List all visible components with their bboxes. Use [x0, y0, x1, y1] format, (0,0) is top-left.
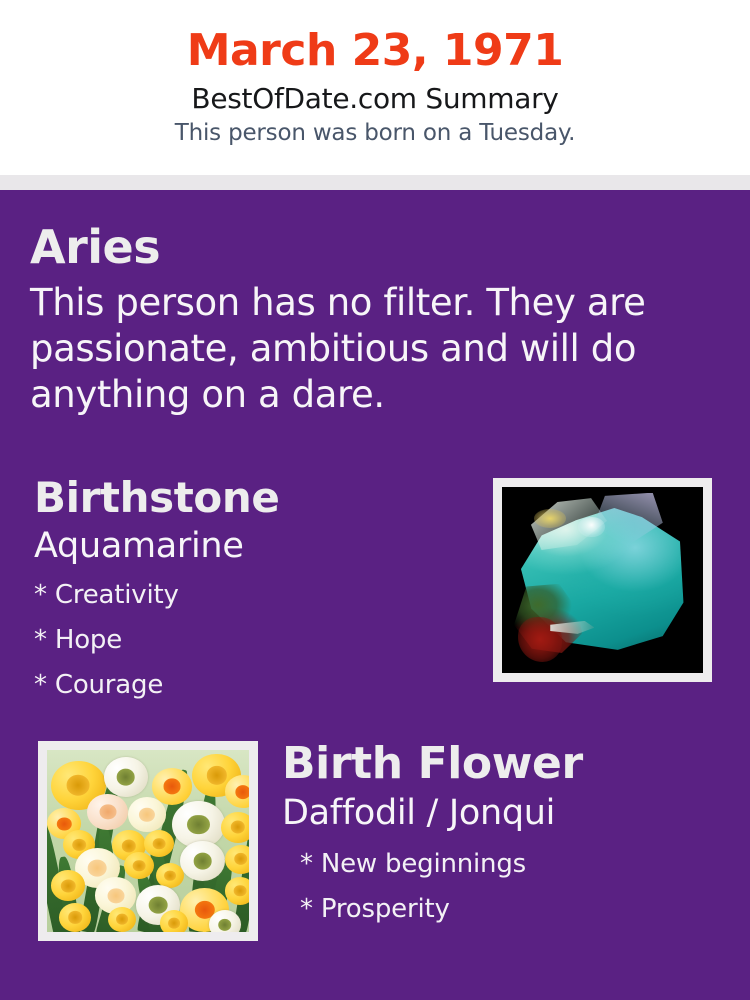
daffodil-bloom [51, 870, 85, 901]
page-title-date: March 23, 1971 [0, 0, 750, 76]
list-item: * Prosperity [300, 887, 732, 932]
daffodil-bloom [108, 907, 136, 932]
daffodil-bloom [221, 812, 249, 843]
daffodil-flowers-image [47, 750, 249, 932]
daffodil-bloom [104, 757, 148, 797]
birthstone-photo-frame [493, 478, 712, 682]
zodiac-description: This person has no filter. They are pass… [30, 274, 670, 418]
birthstone-heading: Birthstone [34, 473, 474, 523]
daffodil-bloom [87, 794, 127, 830]
crystal-yellow-patch [534, 509, 566, 528]
zodiac-sign-heading: Aries [30, 220, 670, 274]
birth-flower-section: Birth Flower Daffodil / Jonqui * New beg… [282, 738, 732, 932]
daffodil-bloom [160, 910, 188, 932]
birth-flower-photo-frame [38, 741, 258, 941]
birth-flower-name: Daffodil / Jonqui [282, 790, 732, 834]
daffodil-bloom [152, 768, 192, 804]
weekday-statement: This person was born on a Tuesday. [0, 115, 750, 147]
zodiac-section: Aries This person has no filter. They ar… [30, 220, 670, 418]
list-item: * Courage [34, 663, 474, 708]
list-item: * Creativity [34, 573, 474, 618]
site-summary-label: BestOfDate.com Summary [0, 76, 750, 115]
daffodil-bloom [209, 910, 241, 932]
daffodil-bloom [180, 841, 224, 881]
list-item: * New beginnings [300, 842, 732, 887]
daffodil-bloom [124, 852, 154, 879]
crystal-red-inclusion [518, 617, 562, 662]
daffodil-bloom [225, 877, 249, 904]
aquamarine-crystal-image [502, 487, 703, 673]
birth-flower-trait-list: * New beginnings * Prosperity [282, 834, 732, 932]
card-header: March 23, 1971 BestOfDate.com Summary Th… [0, 0, 750, 175]
birthstone-trait-list: * Creativity * Hope * Courage [34, 567, 474, 708]
list-item: * Hope [34, 618, 474, 663]
birthstone-section: Birthstone Aquamarine * Creativity * Hop… [34, 473, 474, 708]
birthstone-name: Aquamarine [34, 523, 474, 567]
daffodil-bloom [128, 797, 166, 832]
daffodil-bloom [225, 775, 249, 808]
birth-flower-heading: Birth Flower [282, 738, 732, 790]
header-divider [0, 175, 750, 190]
daffodil-bloom [225, 845, 249, 874]
crystal-highlight [578, 517, 604, 537]
summary-card: March 23, 1971 BestOfDate.com Summary Th… [0, 0, 750, 1000]
